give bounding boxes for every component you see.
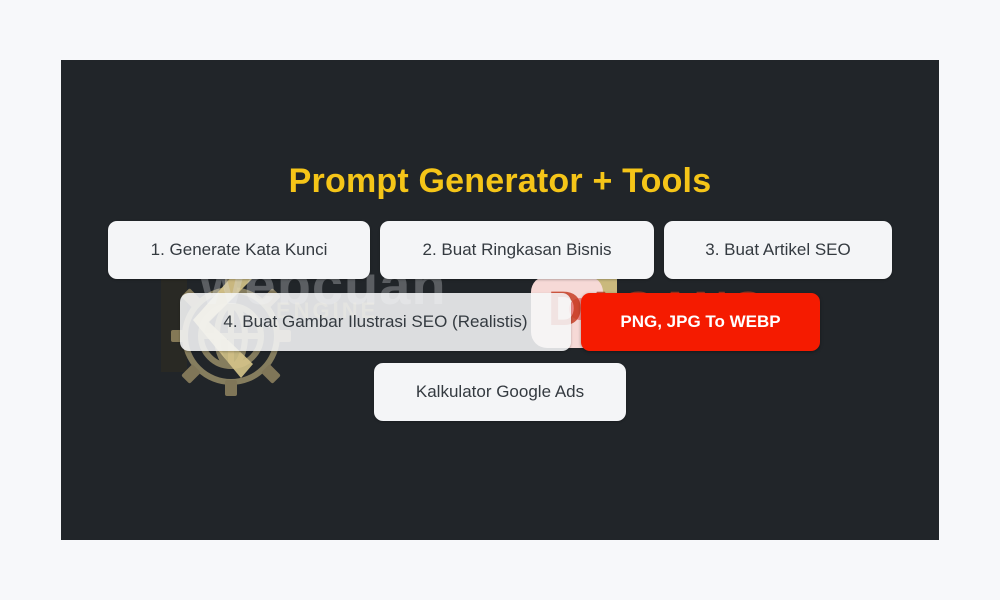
tool-button-png-jpg-to-webp[interactable]: PNG, JPG To WEBP xyxy=(581,293,820,351)
tool-button-row-2: 4. Buat Gambar Ilustrasi SEO (Realistis)… xyxy=(61,293,939,351)
tool-button-kalkulator-google-ads[interactable]: Kalkulator Google Ads xyxy=(374,363,626,421)
tool-button-buat-gambar-ilustrasi-seo[interactable]: 4. Buat Gambar Ilustrasi SEO (Realistis) xyxy=(180,293,571,351)
app-root: webcuan ENGINE APLIKASI DAGANG Prompt Ge… xyxy=(0,0,1000,600)
tool-button-buat-artikel-seo[interactable]: 3. Buat Artikel SEO xyxy=(664,221,892,279)
panel-content: Prompt Generator + Tools 1. Generate Kat… xyxy=(61,60,939,540)
tools-panel: webcuan ENGINE APLIKASI DAGANG Prompt Ge… xyxy=(61,60,939,540)
tool-button-row-3: Kalkulator Google Ads xyxy=(61,363,939,421)
tool-button-buat-ringkasan-bisnis[interactable]: 2. Buat Ringkasan Bisnis xyxy=(380,221,654,279)
tool-button-generate-kata-kunci[interactable]: 1. Generate Kata Kunci xyxy=(108,221,370,279)
tool-button-row-1: 1. Generate Kata Kunci 2. Buat Ringkasan… xyxy=(61,221,939,279)
page-title: Prompt Generator + Tools xyxy=(61,162,939,201)
